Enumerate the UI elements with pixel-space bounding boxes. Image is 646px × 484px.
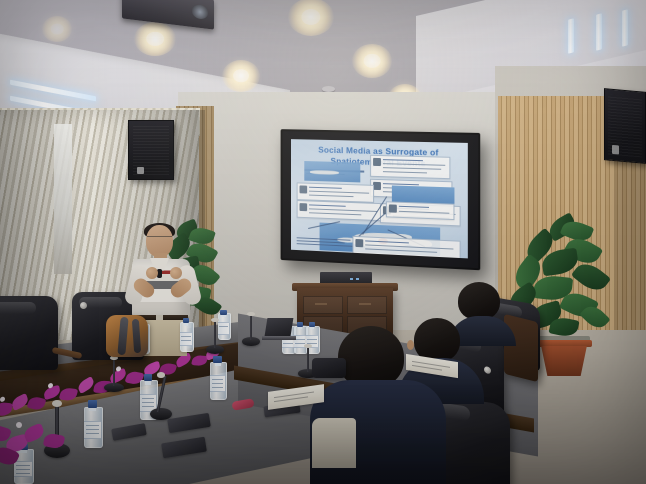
camera-bag[interactable] xyxy=(312,358,346,378)
tweet-avatar-icon xyxy=(373,158,381,166)
mic-stem xyxy=(250,315,252,340)
tweet-avatar-icon xyxy=(389,204,397,212)
mic-capsule-icon xyxy=(157,372,166,378)
backpack-strap xyxy=(117,317,128,356)
tweet-text xyxy=(399,211,449,214)
presentation-display[interactable]: Social Media as Surrogate of Spatiotempo… xyxy=(281,129,481,270)
mic-stem xyxy=(307,347,309,372)
drawer-handle-icon xyxy=(359,303,371,305)
tweet-text xyxy=(309,208,377,212)
bottle-cap xyxy=(183,318,190,323)
chair-knob xyxy=(484,366,491,374)
bottle-label xyxy=(210,375,225,392)
credenza-drawer[interactable] xyxy=(347,296,387,314)
backpack[interactable] xyxy=(106,315,148,357)
tweet-text xyxy=(309,212,361,215)
laptop-keyboard[interactable] xyxy=(262,336,296,340)
mic-stem xyxy=(156,376,166,412)
desk-microphone[interactable] xyxy=(242,312,260,346)
bottle-neck xyxy=(184,323,189,326)
drawer-handle-icon xyxy=(315,303,327,305)
conference-room-photo: Social Media as Surrogate of Spatiotempo… xyxy=(0,0,646,484)
orchid-flower xyxy=(11,393,30,411)
bottle-cap xyxy=(220,310,226,315)
mic-capsule-icon xyxy=(52,400,62,407)
bottle-cap xyxy=(88,400,98,408)
credenza-drawer[interactable] xyxy=(303,296,343,314)
glasses-icon xyxy=(147,236,172,242)
chair-highlight xyxy=(0,302,36,314)
foreground-orchids xyxy=(0,414,98,474)
water-bottle[interactable] xyxy=(210,356,225,400)
desk-microphone[interactable] xyxy=(150,372,172,420)
tweet-avatar-icon xyxy=(300,203,308,211)
plant-pot-rim xyxy=(536,340,592,347)
tweet-text xyxy=(383,171,427,173)
orchid-bud xyxy=(16,422,22,428)
laptop[interactable] xyxy=(262,318,296,340)
tweet-handle xyxy=(399,206,429,208)
orchid-flower xyxy=(22,423,46,443)
mic-stem xyxy=(214,321,216,348)
fluorescent-tube-icon xyxy=(622,9,628,46)
footnote-line xyxy=(297,243,353,247)
inset-map xyxy=(304,161,360,182)
presenter-hand-right xyxy=(170,267,182,279)
ceiling-downlight xyxy=(134,22,176,56)
desk-microphone[interactable] xyxy=(104,356,124,392)
slide-canvas: Social Media as Surrogate of Spatiotempo… xyxy=(291,139,468,258)
laptop-screen xyxy=(265,318,294,336)
mic-capsule-icon xyxy=(247,312,254,316)
amplifier-led-icon xyxy=(350,278,353,280)
tweet-handle xyxy=(365,240,409,243)
desk-microphone[interactable] xyxy=(206,318,224,354)
tweet-card xyxy=(352,236,460,259)
fluorescent-tube-icon xyxy=(596,13,602,50)
backpack-strap xyxy=(132,319,141,353)
window-light xyxy=(54,124,72,274)
map-landmass xyxy=(310,170,339,175)
ceiling-downlight xyxy=(222,60,260,92)
bottle-cap xyxy=(297,322,304,327)
wall-speaker-left xyxy=(128,120,174,180)
plant-leaf xyxy=(571,258,611,296)
tweet-avatar-icon xyxy=(300,185,308,193)
water-bottle[interactable] xyxy=(180,318,192,352)
attendee-head xyxy=(458,282,500,320)
tweet-text xyxy=(383,163,445,166)
mic-capsule-icon xyxy=(304,344,312,348)
fluorescent-tube-icon xyxy=(568,18,574,53)
orchid-flower xyxy=(43,432,65,450)
tweet-text xyxy=(309,195,353,198)
orchid-bud xyxy=(0,396,5,402)
tweet-card xyxy=(297,200,384,221)
tweet-handle xyxy=(309,187,342,189)
ceiling-downlight xyxy=(352,44,392,78)
amplifier-led-icon xyxy=(356,278,359,280)
speaker-badge xyxy=(612,145,618,154)
tweet-card xyxy=(386,201,455,220)
presenter-hand-left xyxy=(146,267,158,279)
tweet-handle xyxy=(383,159,423,161)
tweet-avatar-icon xyxy=(355,239,363,247)
tweet-card xyxy=(370,155,450,179)
attendee-head xyxy=(338,326,404,388)
chair[interactable] xyxy=(0,296,58,370)
tweet-text xyxy=(365,248,437,252)
chair-knob xyxy=(80,302,87,309)
notebook-line xyxy=(274,391,314,398)
bottle-label xyxy=(180,332,192,346)
attendee-sleeve xyxy=(312,418,356,468)
projector-lens-icon xyxy=(192,4,208,20)
speaker-badge xyxy=(137,167,144,174)
ceiling-downlight xyxy=(42,16,72,42)
tweet-handle xyxy=(309,204,346,206)
tweet-text xyxy=(383,167,441,170)
attendee-front xyxy=(316,326,436,484)
wall-speaker-right xyxy=(604,88,646,164)
mic-capsule-icon xyxy=(211,318,218,322)
slide-footnote xyxy=(297,237,353,249)
tweet-text xyxy=(309,191,369,194)
bottle-cap xyxy=(309,322,316,327)
mic-stem xyxy=(113,359,115,386)
bottle-cap xyxy=(213,356,221,363)
tweet-avatar-icon xyxy=(373,182,381,190)
